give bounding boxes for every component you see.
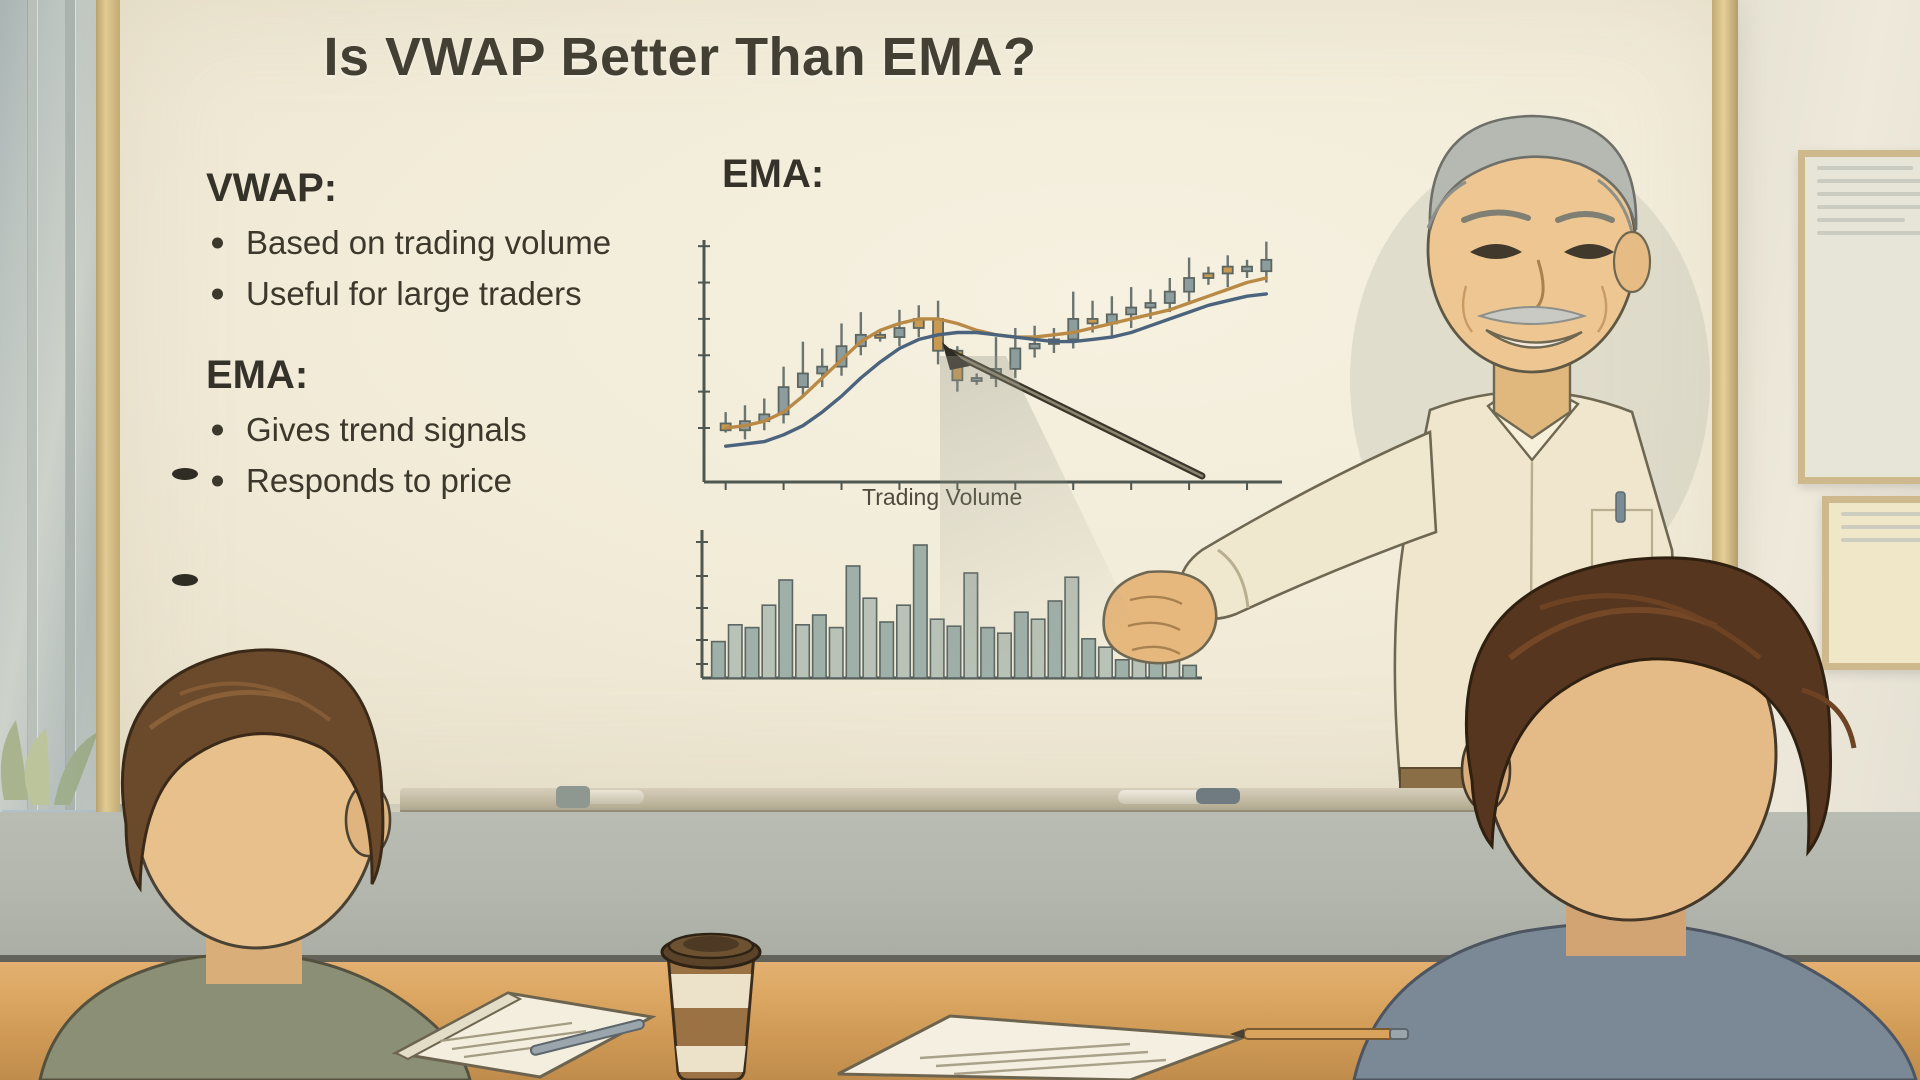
volume-bar [779, 580, 792, 678]
student-right [1330, 512, 1920, 1080]
candle [1203, 273, 1213, 278]
list-item: Gives trend signals [206, 404, 726, 455]
candle [1184, 278, 1194, 292]
list-item-label: Useful for large traders [246, 275, 582, 312]
papers[interactable] [830, 1010, 1250, 1080]
volume-bar [745, 628, 758, 678]
wall-poster-top [1798, 150, 1920, 484]
volume-bar [1183, 665, 1196, 678]
volume-bar [813, 615, 826, 678]
eraser[interactable] [556, 786, 590, 808]
volume-bar [796, 625, 809, 678]
ema-heading: EMA: [206, 353, 726, 398]
volume-bar [729, 625, 742, 678]
vwap-bullet-list: Based on trading volume Useful for large… [206, 217, 726, 319]
bullet-dot-icon [212, 424, 223, 435]
volume-bar [897, 605, 910, 678]
pencil[interactable] [1230, 1026, 1410, 1042]
left-text-column: VWAP: Based on trading volume Useful for… [206, 166, 726, 507]
volume-bar [914, 545, 927, 678]
notebook[interactable] [390, 975, 660, 1080]
bullet-dot-icon [212, 288, 223, 299]
chart-heading: EMA: [722, 152, 824, 197]
volume-bar [863, 598, 876, 678]
list-item-label: Gives trend signals [246, 411, 527, 448]
candle [875, 335, 885, 338]
candle [1223, 267, 1233, 274]
list-item-label: Responds to price [246, 462, 512, 499]
ema-bullet-list: Gives trend signals Responds to price [206, 404, 726, 506]
board-magnet [172, 468, 198, 480]
coffee-cup[interactable] [652, 918, 770, 1080]
bullet-dot-icon [212, 475, 223, 486]
list-item-label: Based on trading volume [246, 224, 611, 261]
list-item: Useful for large traders [206, 268, 726, 319]
slide-scene: Is VWAP Better Than EMA? VWAP: Based on … [0, 0, 1920, 1080]
candle [1068, 319, 1078, 339]
volume-bar [762, 605, 775, 678]
marker-cap[interactable] [1196, 788, 1240, 804]
board-magnet [172, 574, 198, 586]
candle [1261, 260, 1271, 271]
candle [798, 373, 808, 387]
volume-bar [880, 622, 893, 678]
candle [1126, 308, 1136, 315]
vwap-heading: VWAP: [206, 166, 726, 211]
candle [1145, 303, 1155, 308]
candle [894, 328, 904, 337]
candle [1242, 267, 1252, 272]
bullet-dot-icon [212, 237, 223, 248]
volume-bar [846, 566, 859, 678]
candle [1165, 292, 1175, 303]
candle [1088, 319, 1098, 324]
list-item: Responds to price [206, 455, 726, 506]
volume-bar [712, 642, 725, 678]
volume-bar [829, 628, 842, 678]
page-title: Is VWAP Better Than EMA? [0, 26, 1360, 88]
list-item: Based on trading volume [206, 217, 726, 268]
